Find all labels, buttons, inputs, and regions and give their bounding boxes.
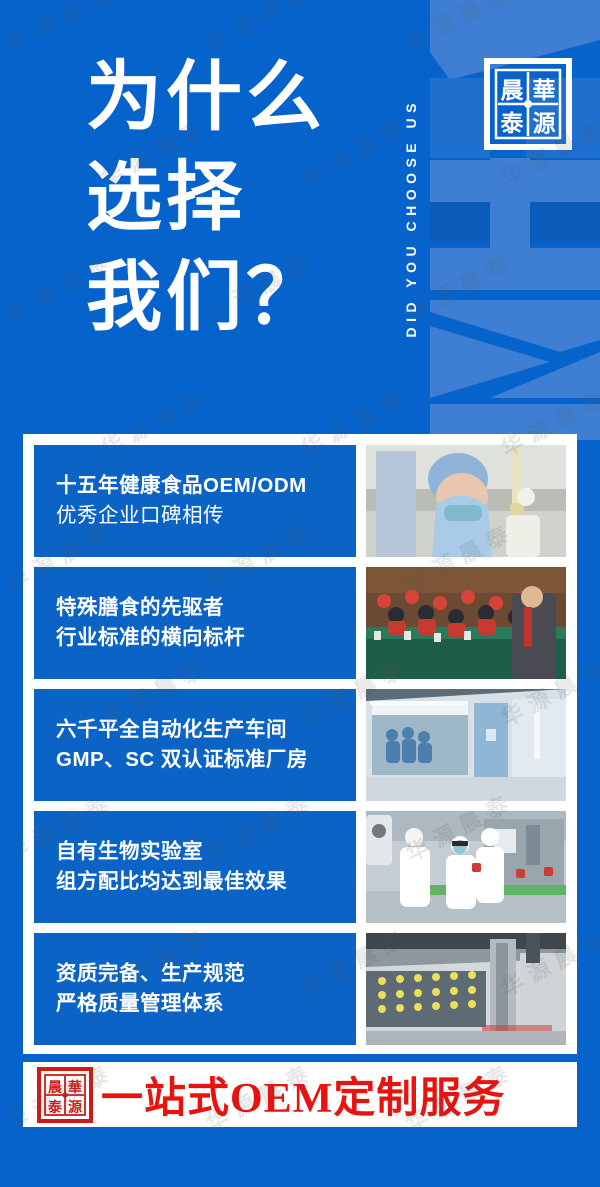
feature-line-2: 组方配比均达到最佳效果 — [56, 867, 346, 897]
watermark-text: 华源晨泰 — [0, 379, 16, 464]
feature-text-block: 特殊膳食的先驱者 行业标准的横向标杆 — [34, 567, 356, 679]
feature-photo-production-line-staff — [366, 811, 566, 923]
feature-line-2: GMP、SC 双认证标准厂房 — [56, 745, 346, 775]
feature-text-block: 资质完备、生产规范 严格质量管理体系 — [34, 933, 356, 1045]
feature-line-2: 优秀企业口碑相传 — [56, 501, 346, 531]
feature-line-1: 六千平全自动化生产车间 — [56, 715, 346, 745]
feature-photo-tablet-packaging-machine — [366, 933, 566, 1045]
svg-text:晨: 晨 — [48, 1080, 63, 1096]
brand-seal-white-icon: 華 晨 源 泰 — [484, 58, 572, 150]
feature-row: 六千平全自动化生产车间 GMP、SC 双认证标准厂房 — [34, 689, 566, 801]
footer-banner: 華 晨 源 泰 一站式OEM定制服务 — [23, 1062, 577, 1127]
svg-text:華: 華 — [533, 77, 556, 103]
feature-line-1: 特殊膳食的先驱者 — [56, 593, 346, 623]
feature-line-2: 严格质量管理体系 — [56, 989, 346, 1019]
feature-line-1: 十五年健康食品OEM/ODM — [56, 471, 346, 501]
feature-line-1: 资质完备、生产规范 — [56, 959, 346, 989]
vertical-caption: DID YOU CHOOSE US — [398, 18, 424, 418]
feature-line-2: 行业标准的横向标杆 — [56, 623, 346, 653]
footer-slogan: 一站式OEM定制服务 — [101, 1064, 505, 1125]
watermark-text: 华源晨泰 — [0, 649, 16, 734]
feature-panel: 十五年健康食品OEM/ODM 优秀企业口碑相传 — [23, 434, 577, 1054]
svg-text:泰: 泰 — [500, 110, 525, 136]
vertical-caption-text: DID YOU CHOOSE US — [403, 98, 419, 338]
feature-photo-cleanroom-corridor — [366, 689, 566, 801]
feature-row: 十五年健康食品OEM/ODM 优秀企业口碑相传 — [34, 445, 566, 557]
feature-text-block: 六千平全自动化生产车间 GMP、SC 双认证标准厂房 — [34, 689, 356, 801]
feature-line-1: 自有生物实验室 — [56, 837, 346, 867]
feature-row: 资质完备、生产规范 严格质量管理体系 — [34, 933, 566, 1045]
poster-root: DID YOU CHOOSE US 華 晨 源 泰 为什么 选择 我们？ 十五年… — [0, 0, 600, 1187]
headline: 为什么 选择 我们？ — [86, 48, 386, 348]
brand-seal-red-icon: 華 晨 源 泰 — [37, 1067, 93, 1123]
watermark-text: 华源晨泰 — [0, 919, 16, 1004]
feature-row: 自有生物实验室 组方配比均达到最佳效果 — [34, 811, 566, 923]
svg-text:泰: 泰 — [47, 1099, 63, 1116]
feature-photo-lab-technician — [366, 445, 566, 557]
feature-photo-conference-audience — [366, 567, 566, 679]
watermark-text: 华源晨泰 — [0, 109, 16, 194]
headline-line-2: 选择 — [86, 148, 386, 248]
svg-text:晨: 晨 — [501, 78, 525, 103]
svg-text:源: 源 — [533, 111, 556, 136]
feature-text-block: 十五年健康食品OEM/ODM 优秀企业口碑相传 — [34, 445, 356, 557]
headline-line-3: 我们？ — [86, 248, 386, 348]
svg-text:華: 華 — [68, 1079, 82, 1096]
svg-text:源: 源 — [68, 1099, 82, 1116]
feature-text-block: 自有生物实验室 组方配比均达到最佳效果 — [34, 811, 356, 923]
feature-row: 特殊膳食的先驱者 行业标准的横向标杆 — [34, 567, 566, 679]
headline-line-1: 为什么 — [86, 48, 386, 148]
